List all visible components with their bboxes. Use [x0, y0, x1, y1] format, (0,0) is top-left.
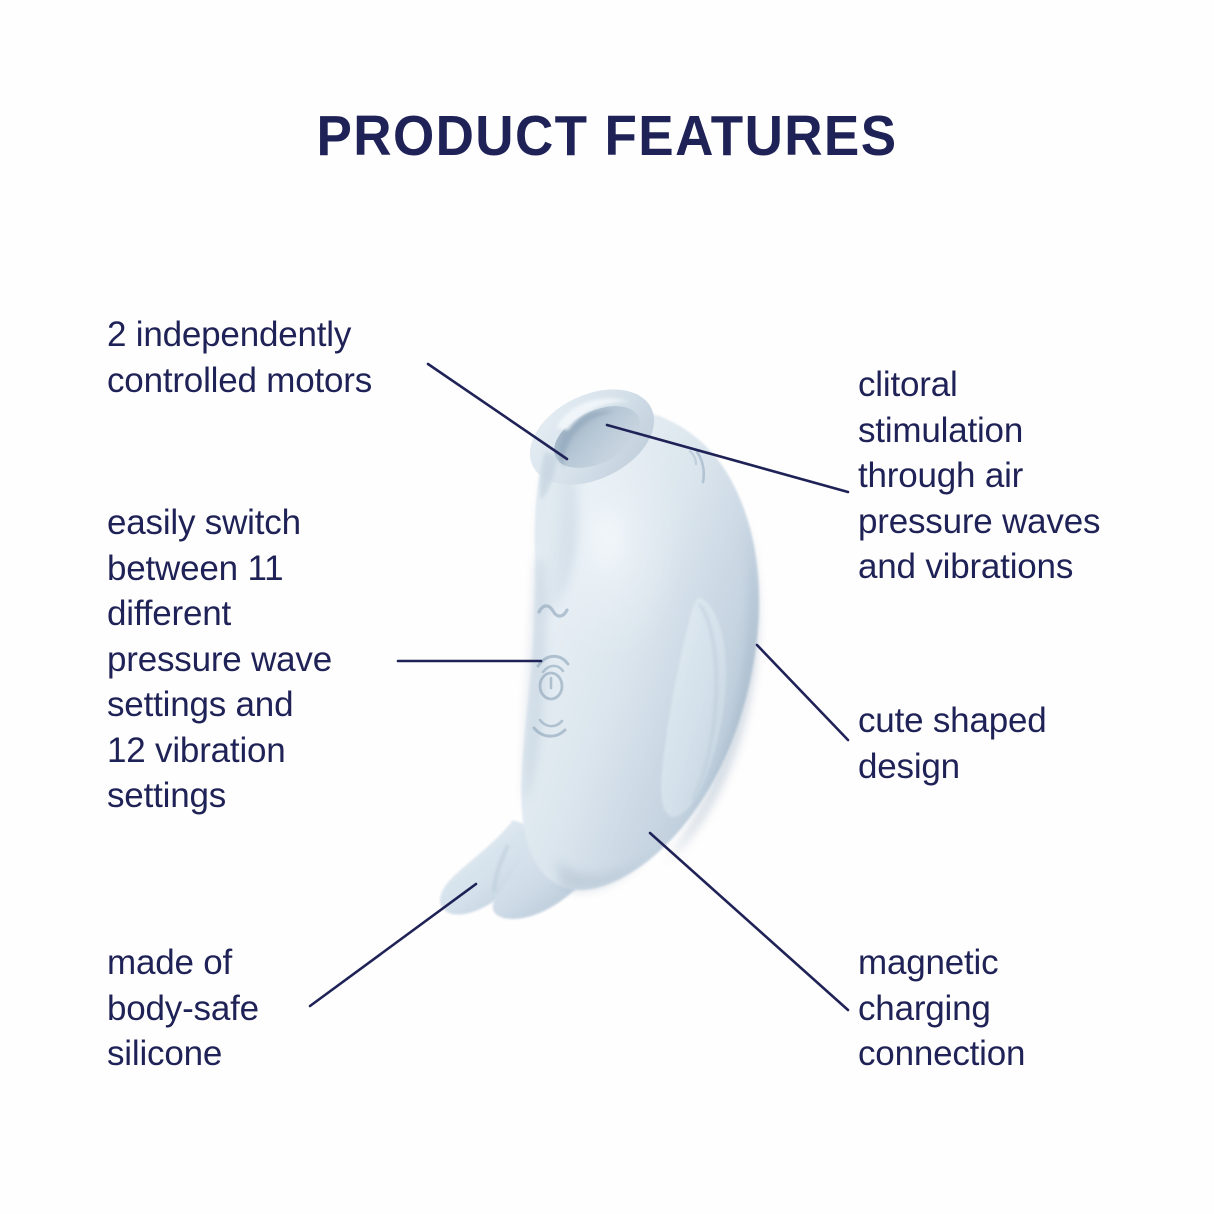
product-shape — [440, 370, 759, 919]
product-features-infographic: PRODUCT FEATURES — [0, 0, 1214, 1214]
callout-label-cute: cute shaped design — [858, 698, 1158, 789]
leader-line-motors — [428, 364, 567, 459]
callout-label-settings: easily switch between 11 different press… — [107, 500, 407, 819]
callout-label-clitoral: clitoral stimulation through air pressur… — [858, 362, 1158, 590]
leader-line-cute — [757, 645, 848, 740]
callout-label-silicone: made of body-safe silicone — [107, 940, 407, 1077]
leader-line-magnetic — [650, 833, 848, 1010]
callout-label-magnetic: magnetic charging connection — [858, 940, 1158, 1077]
callout-label-motors: 2 independently controlled motors — [107, 312, 447, 403]
